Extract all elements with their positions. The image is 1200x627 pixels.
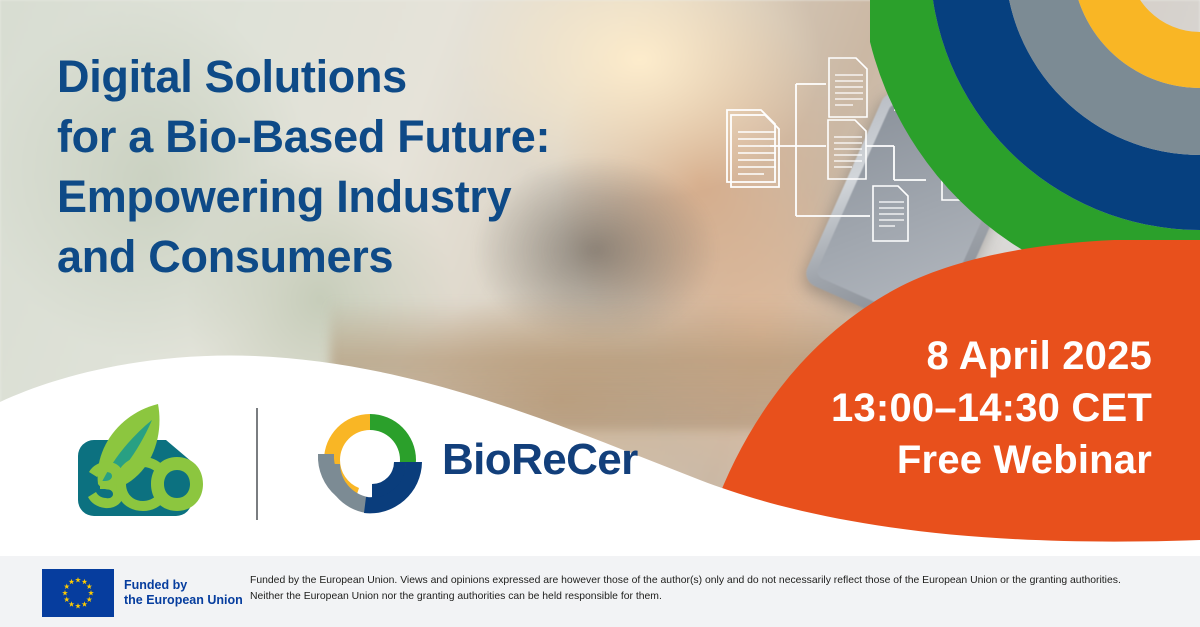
logo-biorecer: BioReCer <box>316 404 638 516</box>
disclaimer-line-2: Neither the European Union nor the grant… <box>250 589 1150 605</box>
eu-flag-icon <box>42 569 114 617</box>
biorecer-mark-icon <box>316 406 424 514</box>
disclaimer-line-1: Funded by the European Union. Views and … <box>250 573 1150 589</box>
biorecer-wordmark: BioReCer <box>442 435 638 485</box>
event-date: 8 April 2025 <box>732 330 1152 382</box>
eu-funding-logo: Funded by the European Union <box>42 569 243 617</box>
eu-funding-label: Funded by the European Union <box>124 578 243 608</box>
biorecer-arc-green <box>370 414 416 460</box>
event-type: Free Webinar <box>732 434 1152 486</box>
biorecer-arc-yellow <box>324 414 370 460</box>
webinar-banner: Digital Solutions for a Bio-Based Future… <box>0 0 1200 627</box>
page-title: Digital Solutions for a Bio-Based Future… <box>57 47 697 287</box>
logo-3co <box>60 402 210 522</box>
footer-bar: Funded by the European Union Funded by t… <box>0 556 1200 627</box>
event-details: 8 April 2025 13:00–14:30 CET Free Webina… <box>732 330 1152 486</box>
eu-disclaimer: Funded by the European Union. Views and … <box>250 573 1150 605</box>
logo-divider <box>256 408 258 520</box>
event-time: 13:00–14:30 CET <box>732 382 1152 434</box>
